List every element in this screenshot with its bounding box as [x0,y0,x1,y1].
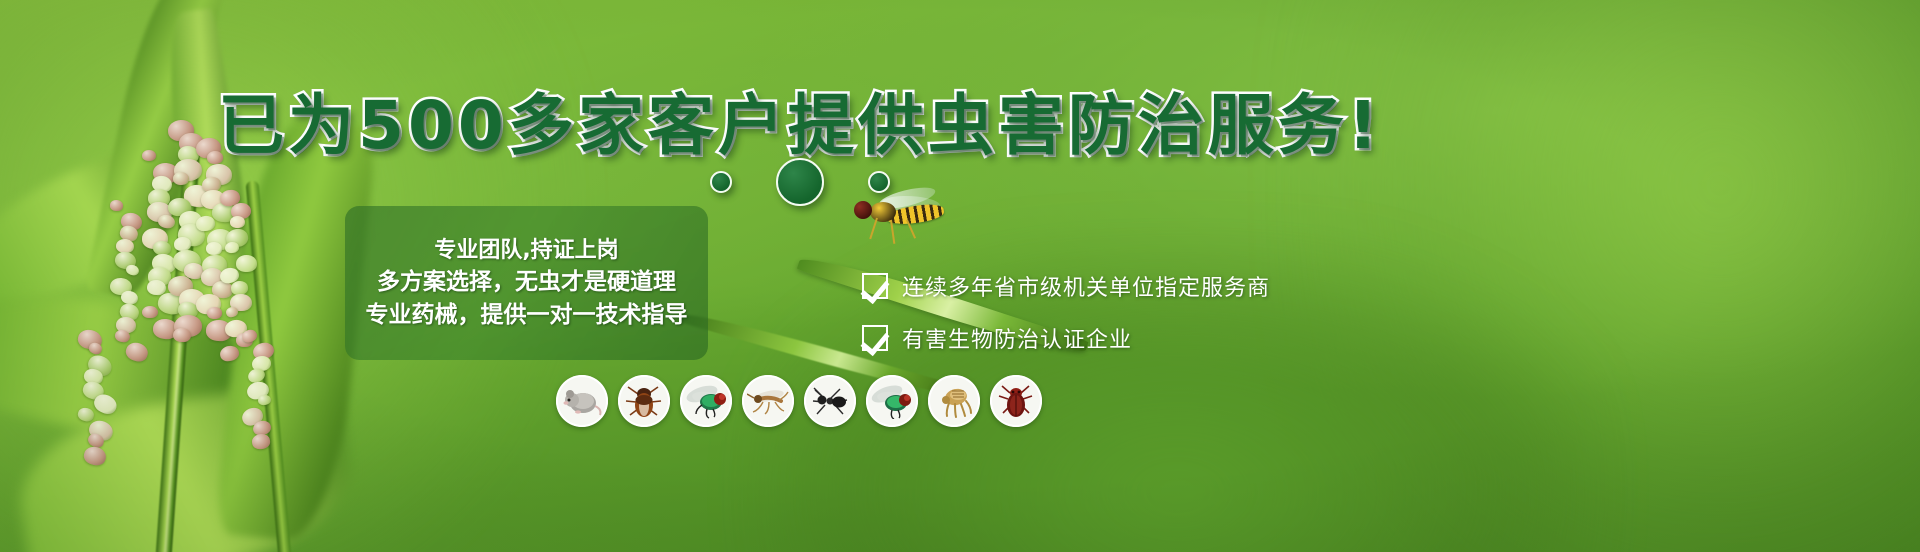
credential-item-1: 有害生物防治认证企业 [862,322,1270,354]
mouse-icon[interactable] [556,375,608,427]
credential-label-0: 连续多年省市级机关单位指定服务商 [902,270,1270,302]
checkbox-checked-icon [862,325,888,351]
page-title: 已为500多家客户提供虫害防治服务! [0,72,1600,168]
pest-icon-row [556,375,1042,427]
ant-icon[interactable] [804,375,856,427]
fly-icon[interactable] [680,375,732,427]
dot-small-left [710,171,732,193]
cockroach-icon[interactable] [618,375,670,427]
flea-icon[interactable] [928,375,980,427]
bedbug-icon[interactable] [990,375,1042,427]
credential-label-1: 有害生物防治认证企业 [902,322,1132,354]
slogan-line-3: 专业药械，提供一对一技术指导 [366,302,688,328]
slogan-line-1: 专业团队,持证上岗 [434,238,618,263]
hoverfly-icon [852,192,948,236]
credential-item-0: 连续多年省市级机关单位指定服务商 [862,270,1270,302]
pest-control-hero-banner: 已为500多家客户提供虫害防治服务! 专业团队,持证上岗 多方案选择，无虫才是硬… [0,0,1920,552]
slogan-line-2: 多方案选择，无虫才是硬道理 [377,269,676,295]
credential-list: 连续多年省市级机关单位指定服务商 有害生物防治认证企业 [862,270,1270,354]
blowfly-icon[interactable] [866,375,918,427]
mosquito-icon[interactable] [742,375,794,427]
checkbox-checked-icon [862,273,888,299]
slogan-list: 专业团队,持证上岗 多方案选择，无虫才是硬道理 专业药械，提供一对一技术指导 [345,206,708,360]
page-title-text: 已为500多家客户提供虫害防治服务! [218,87,1382,164]
